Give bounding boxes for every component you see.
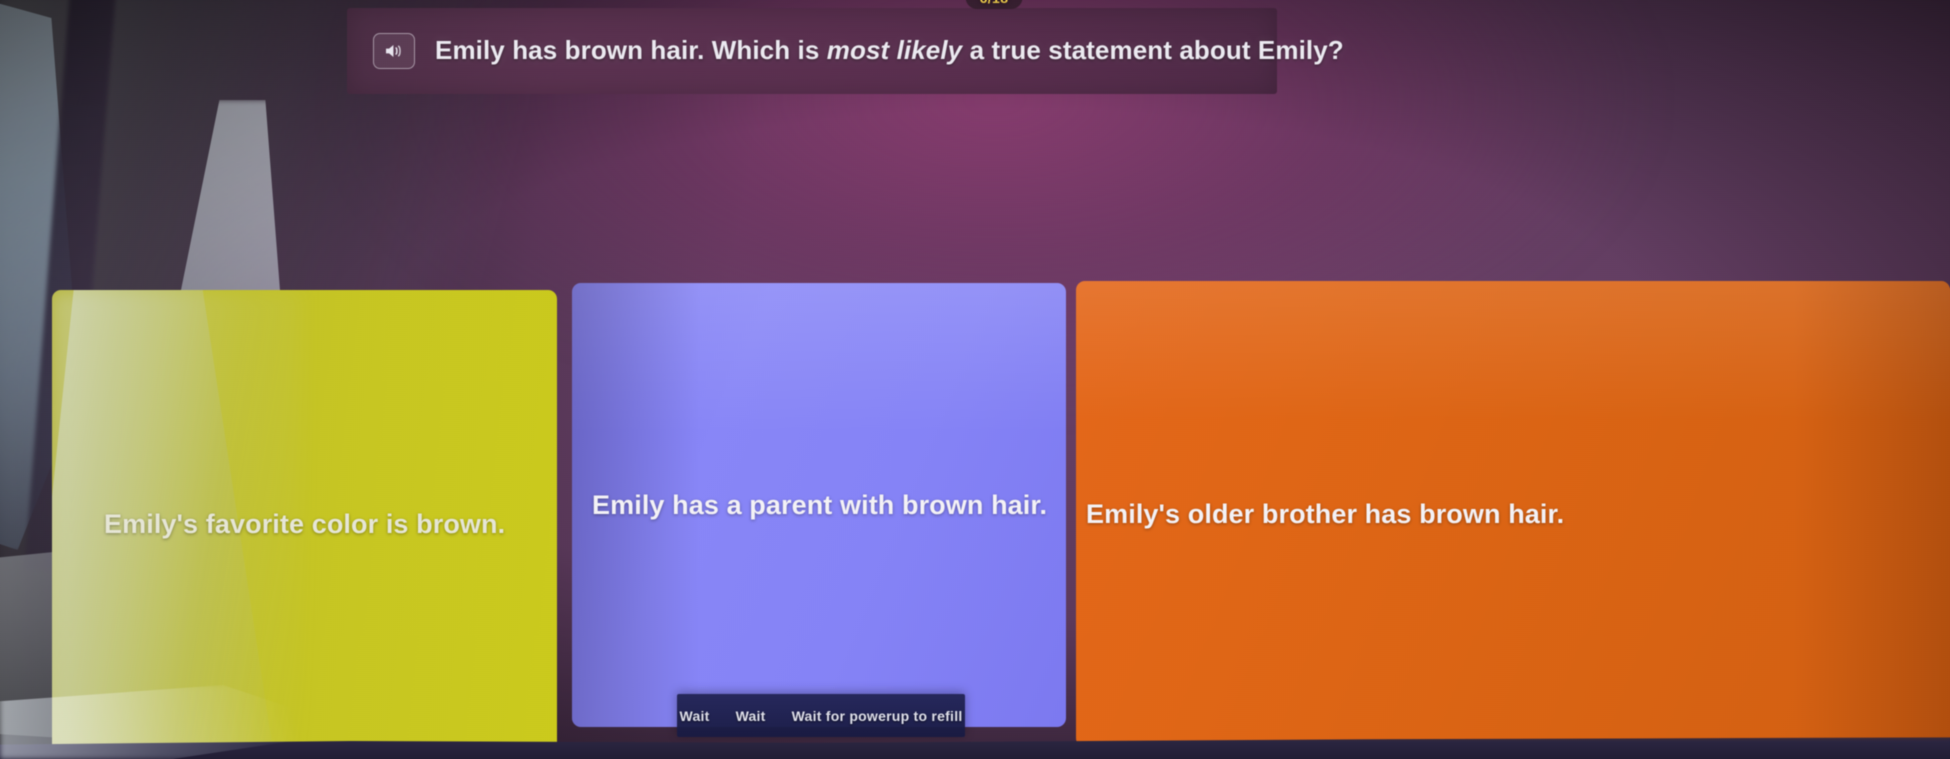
answer-tile-a[interactable]: Emily's favorite color is brown.	[52, 290, 557, 759]
powerup-label-2: Wait	[736, 708, 766, 724]
tile-c-right-shadow	[1793, 281, 1950, 747]
powerup-status-bar: Wait Wait Wait for powerup to refill	[677, 694, 965, 737]
question-text-part-2: a true statement about Emily?	[962, 35, 1344, 65]
question-bar: Emily has brown hair. Which is most like…	[347, 8, 1277, 94]
answer-tiles: Emily's favorite color is brown. Emily h…	[0, 0, 1950, 759]
powerup-label-1: Wait	[680, 708, 710, 724]
quiz-screen-photo: Emily's favorite color is brown. Emily h…	[0, 0, 1950, 759]
answer-tile-c-label: Emily's older brother has brown hair.	[1086, 499, 1564, 530]
tile-b-top-shine	[572, 283, 1066, 434]
answer-tile-c[interactable]: Emily's older brother has brown hair.	[1076, 281, 1950, 747]
speaker-volume-icon[interactable]	[373, 33, 415, 69]
question-text-part-1: Emily has brown hair. Which is	[435, 35, 827, 65]
tile-c-top-shine	[1076, 281, 1950, 421]
question-text-emphasis: most likely	[827, 35, 963, 65]
answer-tile-b[interactable]: Emily has a parent with brown hair.	[572, 283, 1066, 727]
powerup-label-3: Wait for powerup to refill	[792, 708, 963, 724]
question-text: Emily has brown hair. Which is most like…	[435, 36, 1344, 66]
answer-tile-a-label: Emily's favorite color is brown.	[104, 509, 505, 540]
answer-tile-b-label: Emily has a parent with brown hair.	[592, 490, 1047, 521]
question-counter: 6/18	[966, 0, 1023, 9]
